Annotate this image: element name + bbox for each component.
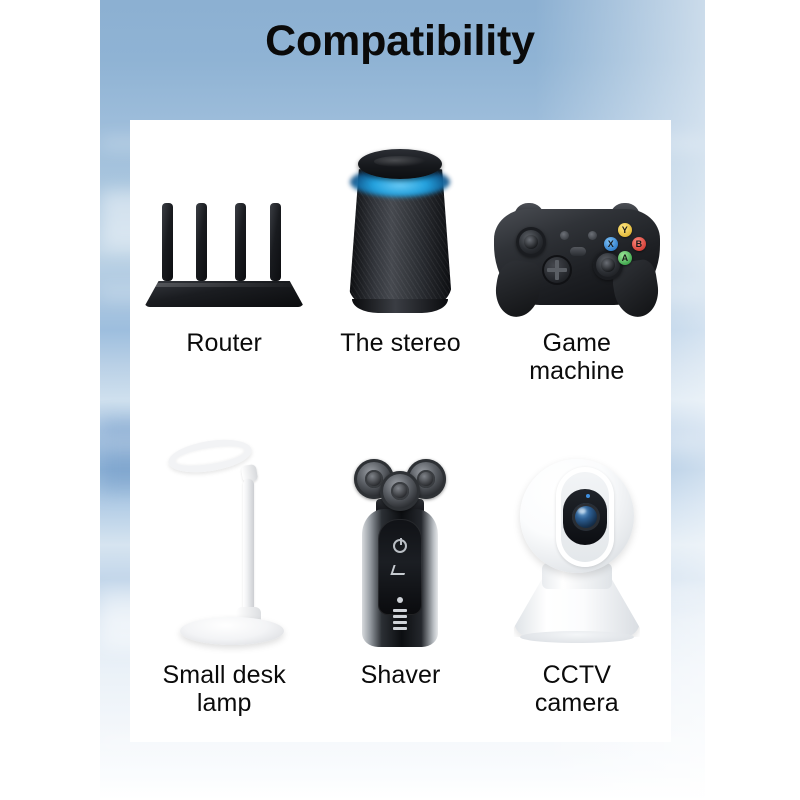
device-item-cctv[interactable]: CCTV camera: [489, 435, 665, 732]
lamp-stem: [243, 479, 254, 619]
controller-button-x: X: [604, 237, 618, 251]
shaver-heads: [354, 455, 446, 501]
controller-view-button: [560, 231, 569, 240]
device-label-desk-lamp: Small desk lamp: [163, 661, 286, 718]
game-controller-icon: Y X B A: [494, 205, 660, 313]
lamp-base: [180, 617, 284, 645]
cctv-camera-icon: [502, 459, 652, 647]
device-item-gamepad[interactable]: Y X B A Game machine: [489, 138, 665, 435]
controller-dpad: [542, 255, 572, 285]
camera-foot-pad: [520, 631, 634, 643]
router-artwork: [144, 138, 304, 313]
device-item-shaver[interactable]: Shaver: [312, 435, 488, 732]
compatibility-infographic: Compatibility Router: [0, 0, 800, 800]
cctv-artwork: [502, 435, 652, 647]
device-item-desk-lamp[interactable]: Small desk lamp: [136, 435, 312, 732]
camera-led-indicator: [586, 494, 590, 498]
devices-card: Router The stereo: [130, 120, 671, 742]
controller-abxy-cluster: Y X B A: [604, 223, 646, 265]
device-label-stereo: The stereo: [340, 329, 461, 357]
camera-lens: [572, 503, 600, 531]
router-antenna: [270, 203, 281, 281]
camera-head: [520, 459, 634, 573]
gamepad-artwork: Y X B A: [494, 138, 660, 313]
shaver-artwork: [352, 435, 448, 647]
device-item-router[interactable]: Router: [136, 138, 312, 435]
device-label-cctv: CCTV camera: [535, 661, 619, 718]
speaker-top-cap: [358, 149, 442, 179]
device-label-shaver: Shaver: [361, 661, 441, 689]
smart-speaker-icon: [344, 147, 456, 313]
stereo-artwork: [344, 138, 456, 313]
controller-share-button: [570, 247, 586, 256]
desk-lamp-icon: [164, 439, 284, 647]
camera-glass: [563, 489, 607, 545]
controller-menu-button: [588, 231, 597, 240]
device-item-stereo[interactable]: The stereo: [312, 138, 488, 435]
controller-stick-left: [516, 227, 546, 257]
shaver-body: [362, 509, 438, 647]
devices-grid: Router The stereo: [130, 120, 671, 742]
shaver-battery-bars: [393, 609, 407, 633]
device-label-gamepad: Game machine: [529, 329, 624, 386]
router-antenna: [196, 203, 207, 281]
camera-faceplate: [556, 467, 614, 567]
router-icon: [144, 203, 304, 313]
controller-button-b: B: [632, 237, 646, 251]
router-base: [144, 281, 304, 307]
page-title: Compatibility: [0, 17, 800, 66]
controller-button-a: A: [618, 251, 632, 265]
desk-lamp-artwork: [164, 435, 284, 647]
router-antenna: [235, 203, 246, 281]
router-antenna: [162, 203, 173, 281]
device-label-router: Router: [186, 329, 262, 357]
electric-shaver-icon: [352, 455, 448, 647]
controller-button-y: Y: [618, 223, 632, 237]
speaker-foot: [352, 299, 448, 313]
